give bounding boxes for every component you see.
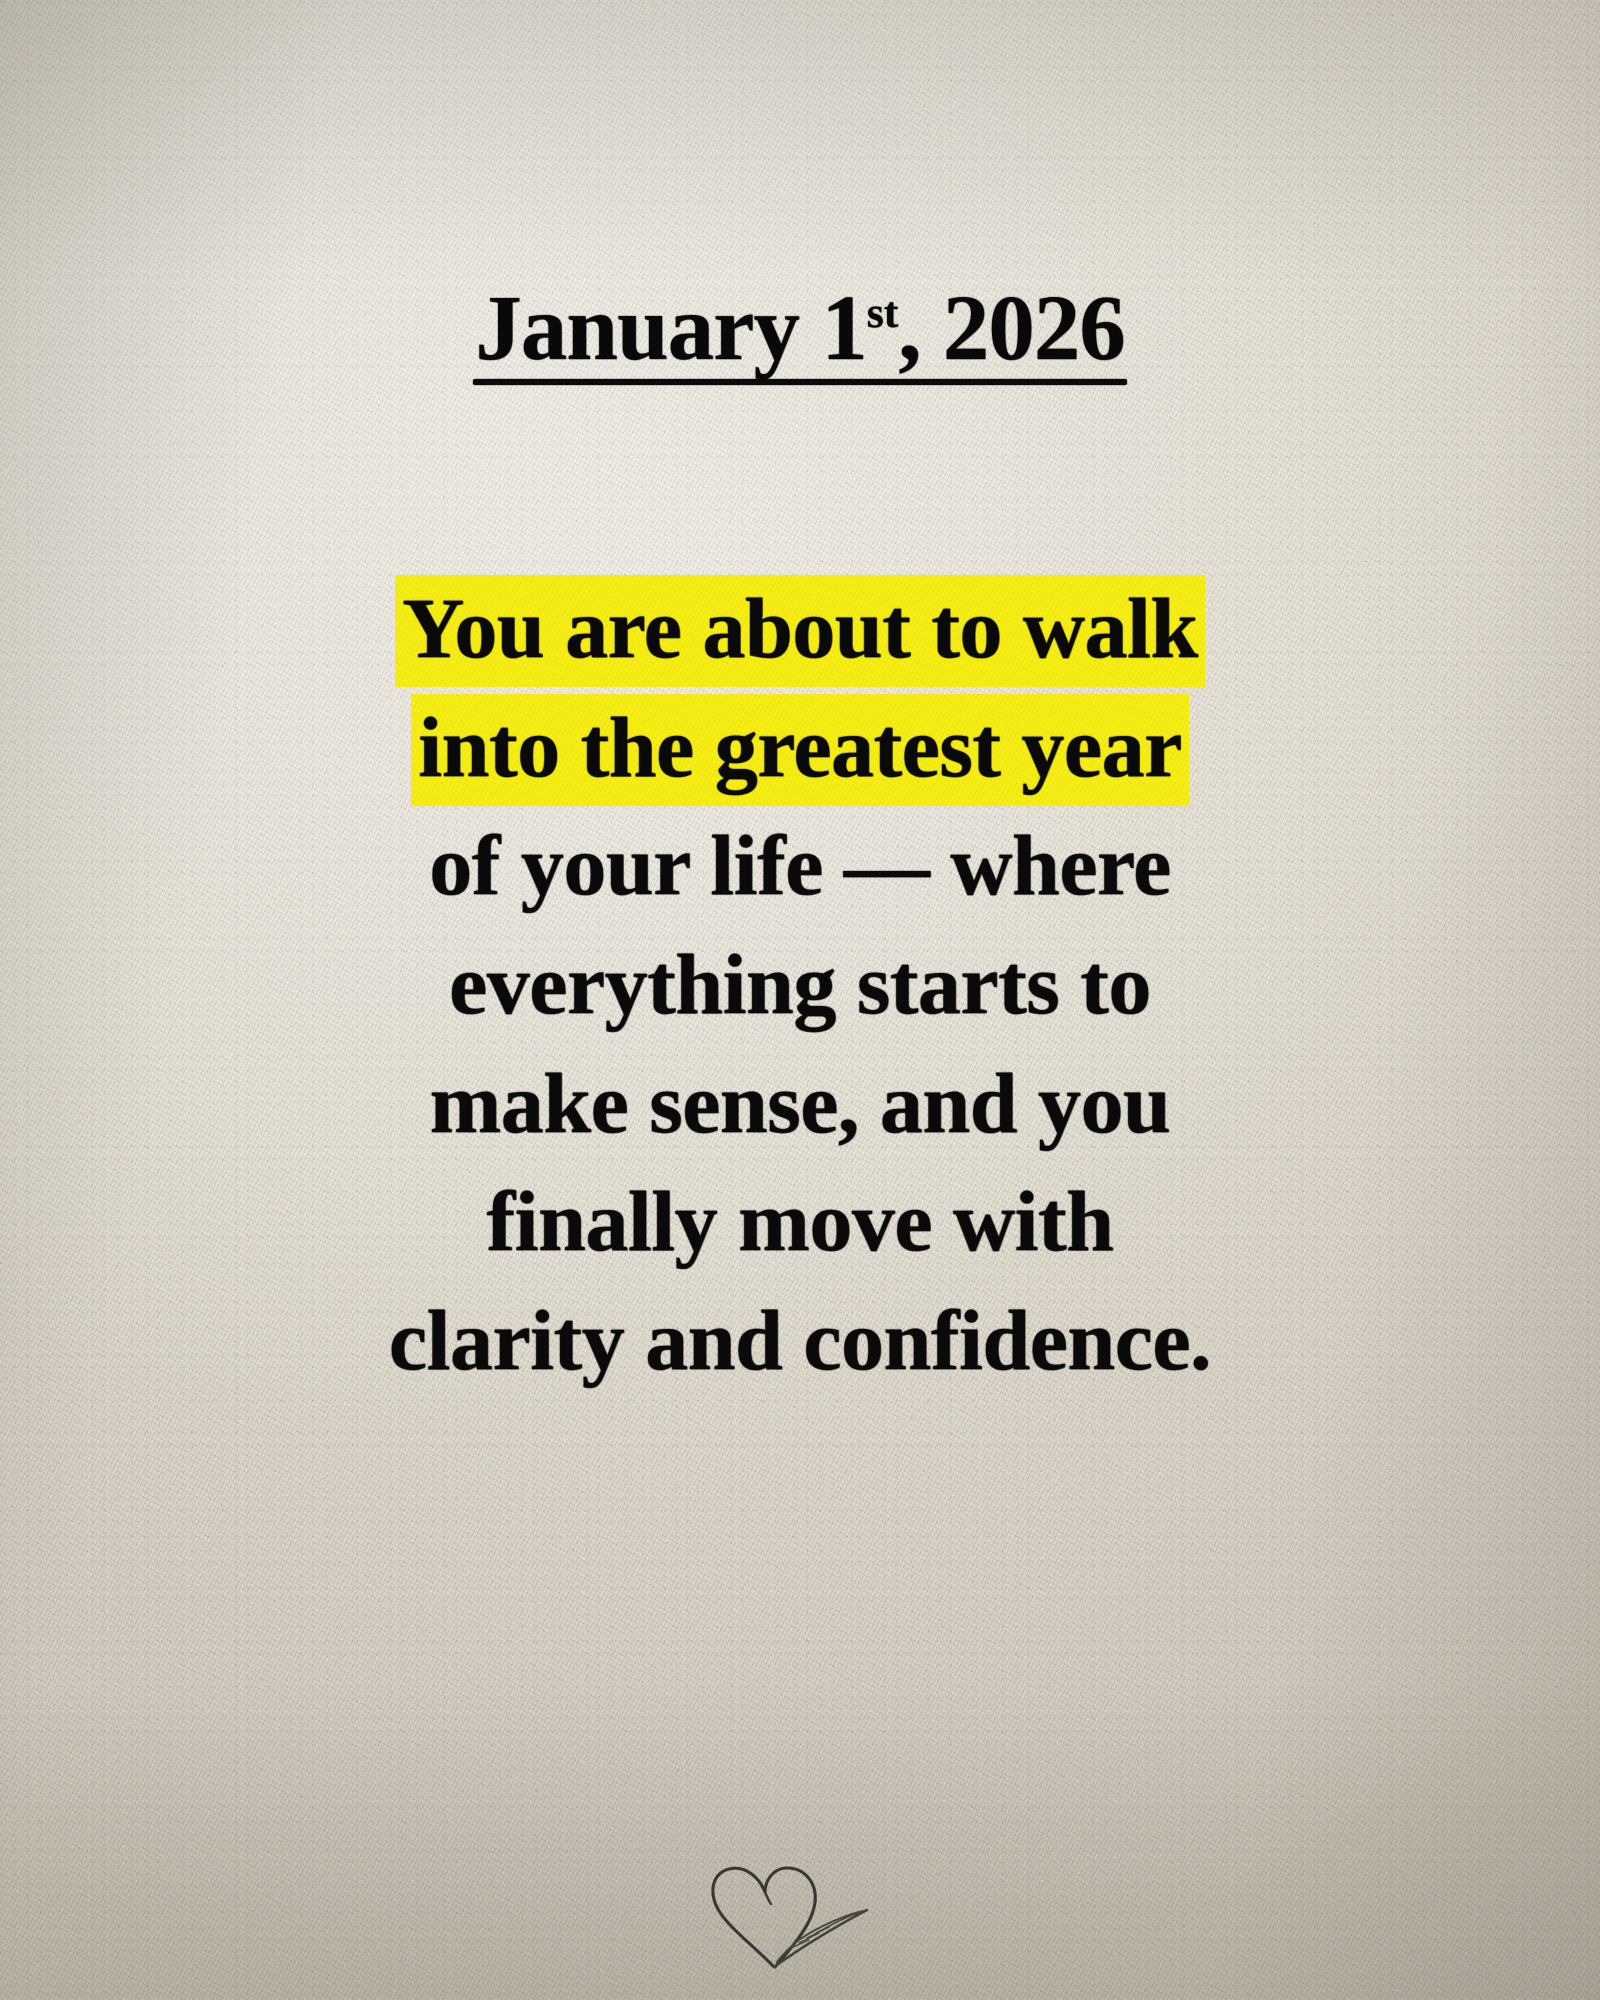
quote-line-4-text: everything starts to	[449, 936, 1151, 1032]
date-heading-ordinal: st	[867, 289, 899, 337]
date-heading-suffix: , 2026	[898, 277, 1125, 380]
quote-line-3-text: of your life — where	[429, 817, 1171, 913]
quote-line-1-text: You are about to walk	[396, 576, 1203, 686]
quote-poster: January 1st, 2026 You are about to walk …	[0, 0, 1600, 2000]
quote-line-4: everything starts to	[240, 925, 1360, 1044]
quote-line-2: into the greatest year	[240, 688, 1360, 807]
heart-with-feather-icon	[695, 1848, 905, 1978]
quote-block: You are about to walk into the greatest …	[240, 569, 1360, 1400]
quote-line-7-text: clarity and confidence.	[389, 1292, 1211, 1388]
poster-content: January 1st, 2026 You are about to walk …	[0, 0, 1600, 2000]
date-heading-prefix: January 1	[475, 277, 866, 380]
quote-line-7: clarity and confidence.	[240, 1281, 1360, 1400]
quote-line-1: You are about to walk	[240, 569, 1360, 688]
quote-line-3: of your life — where	[240, 806, 1360, 925]
quote-line-6-text: finally move with	[487, 1173, 1114, 1269]
quote-line-5: make sense, and you	[240, 1044, 1360, 1163]
date-heading: January 1st, 2026	[469, 282, 1131, 387]
date-heading-underline	[473, 379, 1127, 385]
quote-line-6: finally move with	[240, 1162, 1360, 1281]
quote-line-5-text: make sense, and you	[430, 1055, 1171, 1151]
quote-line-2-text: into the greatest year	[412, 695, 1188, 805]
